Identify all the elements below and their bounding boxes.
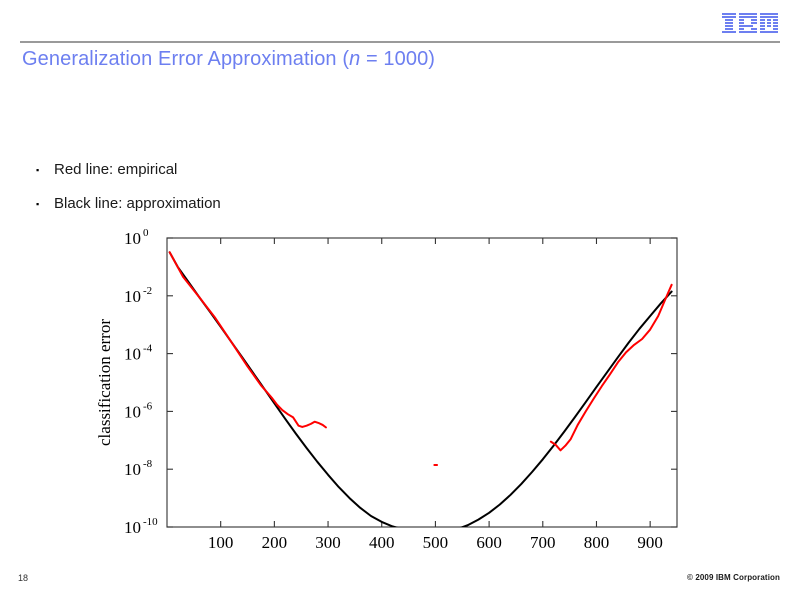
bullet-label-red-line: Red line: empirical bbox=[54, 160, 177, 180]
y-tick-mantissa: 10 bbox=[124, 287, 141, 306]
chart-svg: 10020030040050060070080090010010-210-410… bbox=[96, 228, 696, 558]
y-tick-mantissa: 10 bbox=[124, 345, 141, 364]
x-axis-label: p bbox=[415, 553, 427, 558]
y-tick-mantissa: 10 bbox=[124, 229, 141, 248]
y-tick-label: 10-10 bbox=[124, 516, 158, 537]
x-tick-label: 800 bbox=[584, 533, 610, 552]
y-tick-label: 10-6 bbox=[124, 400, 153, 421]
page-title-variable: n bbox=[349, 48, 360, 70]
y-tick-mantissa: 10 bbox=[124, 402, 141, 421]
x-tick-label: 500 bbox=[423, 533, 449, 552]
slide-number: 18 bbox=[18, 573, 28, 583]
slide-canvas: Generalization Error Approximation (n = … bbox=[0, 0, 800, 599]
bullet-list: ▪ Red line: empirical ▪ Black line: appr… bbox=[36, 160, 456, 228]
y-tick-mantissa: 10 bbox=[124, 460, 141, 479]
x-tick-label: 900 bbox=[637, 533, 663, 552]
ibm-logo bbox=[722, 13, 778, 35]
y-tick-label: 100 bbox=[124, 228, 149, 248]
y-tick-exponent: -6 bbox=[143, 400, 153, 412]
page-title-suffix: = 1000) bbox=[360, 48, 435, 70]
y-tick-exponent: -8 bbox=[143, 458, 153, 470]
header-divider bbox=[20, 41, 780, 43]
bullet-square-icon: ▪ bbox=[36, 160, 44, 180]
bullet-square-icon: ▪ bbox=[36, 194, 44, 214]
list-item: ▪ Red line: empirical bbox=[36, 160, 456, 180]
x-tick-label: 700 bbox=[530, 533, 556, 552]
x-tick-label: 400 bbox=[369, 533, 395, 552]
x-tick-label: 100 bbox=[208, 533, 234, 552]
page-title-prefix: Generalization Error Approximation ( bbox=[22, 48, 349, 70]
y-tick-mantissa: 10 bbox=[124, 518, 141, 537]
page-title: Generalization Error Approximation (n = … bbox=[22, 48, 435, 71]
classification-error-chart: 10020030040050060070080090010010-210-410… bbox=[96, 228, 696, 558]
ibm-logo-svg bbox=[722, 13, 778, 35]
copyright-notice: © 2009 IBM Corporation bbox=[687, 573, 780, 582]
y-tick-exponent: 0 bbox=[143, 228, 149, 239]
x-tick-label: 200 bbox=[262, 533, 288, 552]
y-tick-exponent: -4 bbox=[143, 343, 153, 355]
series-approximation bbox=[170, 252, 672, 532]
y-tick-exponent: -10 bbox=[143, 516, 158, 528]
y-tick-label: 10-4 bbox=[124, 343, 153, 364]
x-tick-label: 300 bbox=[315, 533, 341, 552]
list-item: ▪ Black line: approximation bbox=[36, 194, 456, 214]
x-tick-label: 600 bbox=[476, 533, 502, 552]
bullet-label-black-line: Black line: approximation bbox=[54, 194, 221, 214]
y-tick-label: 10-2 bbox=[124, 285, 152, 306]
series-empirical-left bbox=[170, 252, 326, 427]
y-axis-label: classification error bbox=[96, 319, 114, 446]
data-curves bbox=[170, 252, 672, 532]
y-tick-label: 10-8 bbox=[124, 458, 153, 479]
y-tick-exponent: -2 bbox=[143, 285, 152, 297]
